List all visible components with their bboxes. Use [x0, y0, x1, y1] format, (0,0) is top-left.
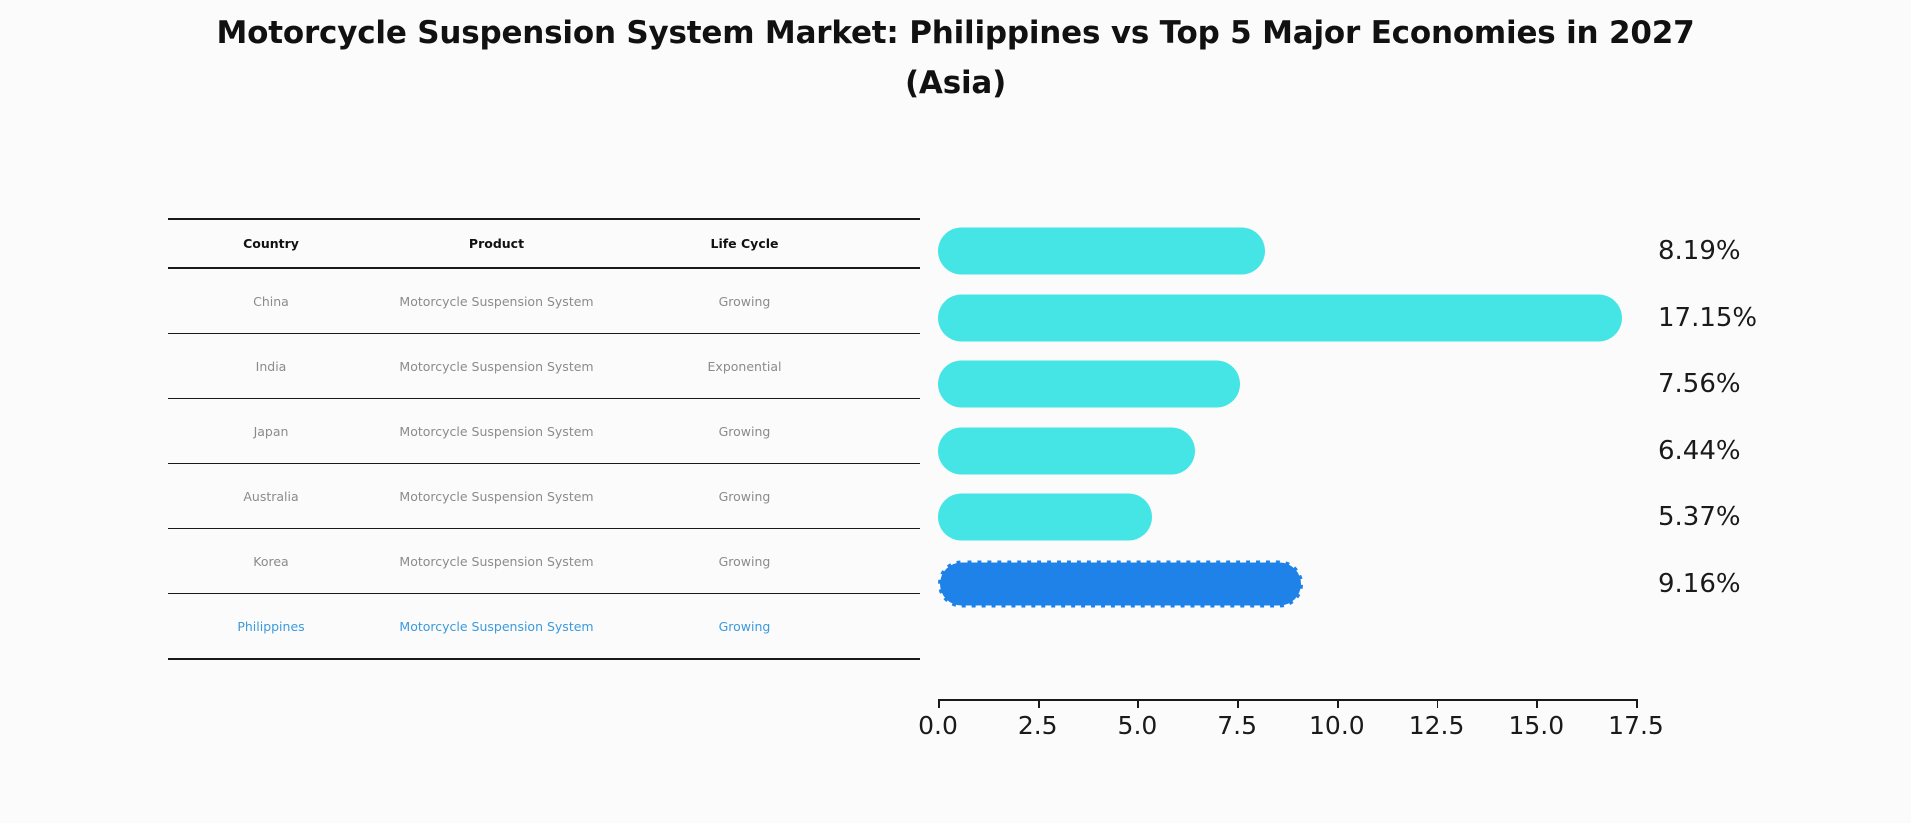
cell-life-cycle: Exponential	[619, 359, 870, 374]
page-title: Motorcycle Suspension System Market: Phi…	[0, 8, 1911, 108]
x-axis-tick-label: 7.5	[1217, 711, 1257, 740]
cell-country: India	[168, 359, 374, 374]
x-axis-tick	[1437, 699, 1439, 708]
x-axis-tick-label: 15.0	[1508, 711, 1564, 740]
cell-product: Motorcycle Suspension System	[374, 554, 619, 569]
bar-highlighted[interactable]	[938, 560, 1303, 607]
table-row-highlighted: Philippines Motorcycle Suspension System…	[168, 594, 920, 658]
country-table: Country Product Life Cycle China Motorcy…	[168, 218, 920, 660]
x-axis-tick	[1636, 699, 1638, 708]
bar[interactable]	[938, 361, 1240, 408]
x-axis-tick-label: 17.5	[1608, 711, 1664, 740]
cell-country: Japan	[168, 424, 374, 439]
column-header-life-cycle: Life Cycle	[619, 236, 870, 251]
title-line-2: (Asia)	[0, 58, 1911, 108]
x-axis-tick	[1038, 699, 1040, 708]
cell-product: Motorcycle Suspension System	[374, 359, 619, 374]
x-axis-tick-label: 10.0	[1309, 711, 1365, 740]
bar-value-label: 8.19%	[1658, 236, 1741, 266]
bar-value-label: 6.44%	[1658, 436, 1741, 466]
x-axis-tick	[1137, 699, 1139, 708]
bar-value-label: 9.16%	[1658, 569, 1741, 599]
cell-product: Motorcycle Suspension System	[374, 619, 619, 634]
cell-life-cycle: Growing	[619, 489, 870, 504]
cell-country: Australia	[168, 489, 374, 504]
x-axis-tick	[1337, 699, 1339, 708]
x-axis-tick	[938, 699, 940, 708]
x-axis-tick-label: 2.5	[1018, 711, 1058, 740]
table-row: China Motorcycle Suspension System Growi…	[168, 269, 920, 333]
cell-product: Motorcycle Suspension System	[374, 294, 619, 309]
cell-product: Motorcycle Suspension System	[374, 489, 619, 504]
table-row: India Motorcycle Suspension System Expon…	[168, 334, 920, 398]
bar[interactable]	[938, 228, 1265, 275]
x-axis: 0.02.55.07.510.012.515.017.5	[938, 699, 1636, 701]
title-line-1: Motorcycle Suspension System Market: Phi…	[216, 15, 1694, 51]
x-axis-tick	[1237, 699, 1239, 708]
table-row: Australia Motorcycle Suspension System G…	[168, 464, 920, 528]
column-header-country: Country	[168, 236, 374, 251]
bar-value-label: 17.15%	[1658, 303, 1757, 333]
cell-life-cycle: Growing	[619, 294, 870, 309]
column-header-product: Product	[374, 236, 619, 251]
cell-life-cycle: Growing	[619, 424, 870, 439]
table-row: Japan Motorcycle Suspension System Growi…	[168, 399, 920, 463]
cell-country: Philippines	[168, 619, 374, 634]
table-header-row: Country Product Life Cycle	[168, 220, 920, 267]
table-bottom-rule	[168, 658, 920, 660]
x-axis-tick-label: 12.5	[1409, 711, 1465, 740]
bar-value-label: 5.37%	[1658, 502, 1741, 532]
bar[interactable]	[938, 294, 1622, 341]
x-axis-tick-label: 0.0	[918, 711, 958, 740]
x-axis-tick-label: 5.0	[1118, 711, 1158, 740]
table-row: Korea Motorcycle Suspension System Growi…	[168, 529, 920, 593]
bar[interactable]	[938, 427, 1195, 474]
bar[interactable]	[938, 494, 1152, 541]
x-axis-tick	[1536, 699, 1538, 708]
cell-country: China	[168, 294, 374, 309]
bar-value-label: 7.56%	[1658, 369, 1741, 399]
cell-country: Korea	[168, 554, 374, 569]
cell-life-cycle: Growing	[619, 619, 870, 634]
cell-product: Motorcycle Suspension System	[374, 424, 619, 439]
cell-life-cycle: Growing	[619, 554, 870, 569]
